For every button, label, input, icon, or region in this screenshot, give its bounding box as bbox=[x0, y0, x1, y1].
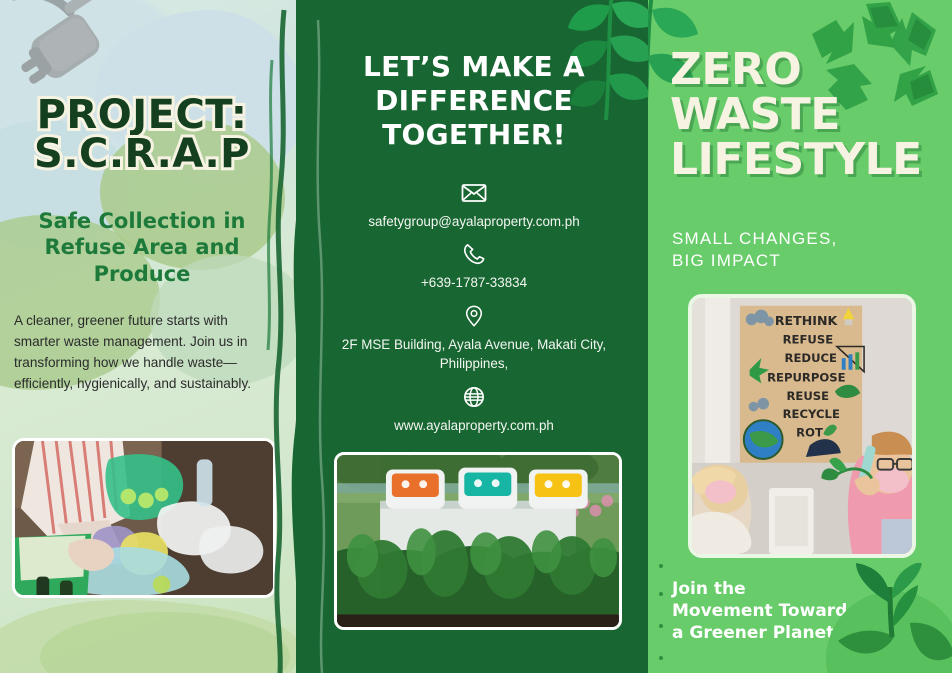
location-pin-icon bbox=[461, 305, 487, 327]
contact-address-value: 2F MSE Building, Ayala Avenue, Makati Ci… bbox=[312, 335, 636, 374]
subtitle-line-1: Safe Collection in bbox=[39, 209, 246, 233]
contact-website[interactable]: www.ayalaproperty.com.ph bbox=[312, 386, 636, 435]
subtitle-line-1: SMALL CHANGES, bbox=[672, 228, 942, 250]
subtitle-line-3: Produce bbox=[94, 262, 191, 286]
photo-waste-sorting bbox=[12, 438, 276, 598]
globe-with-sprout-icon bbox=[798, 563, 952, 673]
photo-recycling-bins bbox=[334, 452, 622, 630]
contact-list: safetygroup@ayalaproperty.com.ph +639-17… bbox=[312, 182, 636, 447]
dotted-accent-line bbox=[658, 560, 664, 670]
contact-address[interactable]: 2F MSE Building, Ayala Avenue, Makati Ci… bbox=[312, 305, 636, 374]
page-subtitle: Safe Collection in Refuse Area and Produ… bbox=[14, 208, 270, 287]
left-panel: PROJECT: S.C.R.A.P Safe Collection in Re… bbox=[0, 0, 300, 673]
brochure-canvas: PROJECT: S.C.R.A.P Safe Collection in Re… bbox=[0, 0, 952, 673]
svg-text:REUSE: REUSE bbox=[786, 389, 829, 403]
page-title: PROJECT: S.C.R.A.P bbox=[14, 96, 270, 174]
globe-icon bbox=[461, 386, 487, 408]
waste-line: WASTE bbox=[670, 93, 950, 138]
lifestyle-line: LIFESTYLE bbox=[670, 138, 950, 183]
photo-classroom-poster: RETHINK REFUSE REDUCE REPURPOSE REUSE RE… bbox=[688, 294, 916, 558]
title-line-2: S.C.R.A.P bbox=[14, 135, 270, 174]
contact-website-value: www.ayalaproperty.com.ph bbox=[312, 416, 636, 435]
envelope-icon bbox=[461, 182, 487, 204]
title-line-1: PROJECT: bbox=[14, 96, 270, 135]
subtitle-line-2: Refuse Area and bbox=[44, 235, 239, 259]
svg-text:REPURPOSE: REPURPOSE bbox=[767, 370, 846, 384]
phone-icon bbox=[461, 243, 487, 265]
contact-phone-value: +639-1787-33834 bbox=[312, 273, 636, 292]
brush-stroke-divider bbox=[262, 0, 300, 673]
contact-phone[interactable]: +639-1787-33834 bbox=[312, 243, 636, 292]
zero-line: ZERO bbox=[670, 48, 950, 93]
svg-text:RETHINK: RETHINK bbox=[775, 313, 839, 328]
svg-text:REDUCE: REDUCE bbox=[785, 351, 838, 365]
svg-text:REFUSE: REFUSE bbox=[783, 333, 834, 347]
right-panel-subtitle: SMALL CHANGES, BIG IMPACT bbox=[672, 228, 942, 272]
contact-email-value: safetygroup@ayalaproperty.com.ph bbox=[312, 212, 636, 231]
intro-paragraph: A cleaner, greener future starts with sm… bbox=[14, 310, 276, 394]
contact-email[interactable]: safetygroup@ayalaproperty.com.ph bbox=[312, 182, 636, 231]
subtitle-line-2: BIG IMPACT bbox=[672, 250, 942, 272]
middle-panel-heading: LET’S MAKE A DIFFERENCE TOGETHER! bbox=[322, 50, 626, 152]
heading-line-1: LET’S MAKE A bbox=[322, 50, 626, 84]
right-panel-title: ZERO WASTE LIFESTYLE bbox=[670, 48, 950, 183]
svg-text:ROT: ROT bbox=[796, 426, 823, 440]
svg-text:RECYCLE: RECYCLE bbox=[783, 407, 840, 421]
heading-line-3: TOGETHER! bbox=[322, 118, 626, 152]
heading-line-2: DIFFERENCE bbox=[322, 84, 626, 118]
